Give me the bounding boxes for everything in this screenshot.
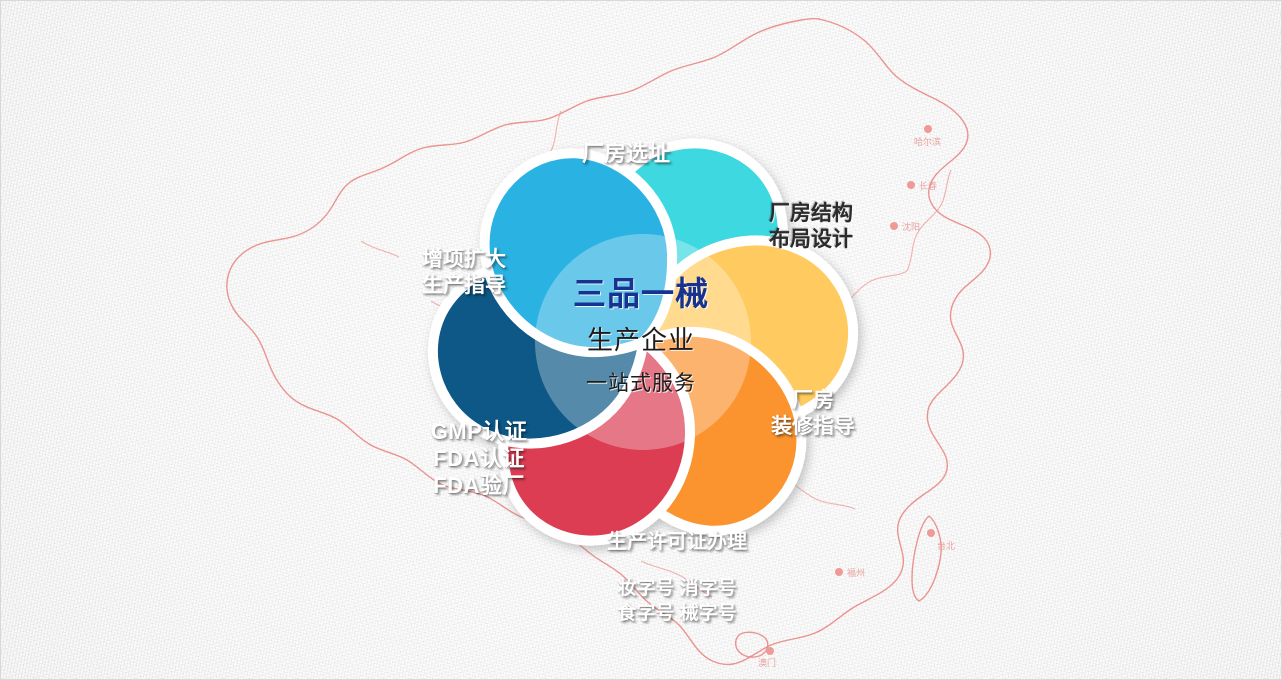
center-hub xyxy=(535,234,751,450)
map-hainan-island xyxy=(736,632,768,657)
pinwheel-diagram xyxy=(358,59,928,625)
infographic-canvas: 哈尔滨 长春 沈阳 北京 郑州 台北 福州 澳门 xyxy=(0,0,1282,680)
svg-text:澳门: 澳门 xyxy=(758,657,776,668)
svg-text:台北: 台北 xyxy=(937,540,955,551)
